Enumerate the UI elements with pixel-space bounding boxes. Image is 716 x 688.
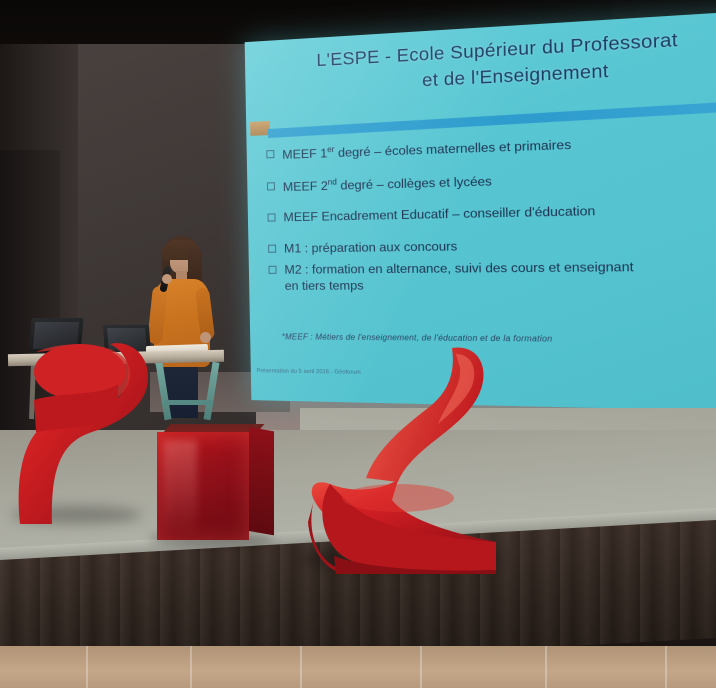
list-item: MEEF 1er degré – écoles maternelles et p…: [264, 129, 716, 164]
list-item: M2 : formation en alternance, suivi des …: [266, 258, 716, 294]
square-bullet-icon: [269, 266, 277, 274]
bullet-text-continuation: en tiers temps: [285, 276, 716, 294]
bullet-text: MEEF 1: [282, 146, 327, 162]
bullet-text: MEEF Encadrement Educatif – conseiller d…: [283, 204, 595, 225]
floor-tiles: [0, 646, 716, 688]
square-bullet-icon: [266, 150, 274, 158]
square-bullet-icon: [267, 182, 275, 190]
acrylic-cube-highlight: [163, 440, 197, 532]
list-item: M1 : préparation aux concours: [266, 234, 716, 257]
bullet-text-rest: degré – écoles maternelles et primaires: [334, 137, 571, 160]
acrylic-cube-side: [249, 427, 274, 535]
list-item: MEEF Encadrement Educatif – conseiller d…: [265, 200, 716, 226]
list-item: MEEF 2nd degré – collèges et lycées: [265, 165, 716, 196]
panton-chair-left: [6, 336, 156, 526]
square-bullet-icon: [268, 214, 276, 222]
square-bullet-icon: [268, 244, 276, 252]
bullet-superscript: nd: [328, 177, 337, 186]
table-brace: [164, 400, 212, 405]
presentation-photo-scene: L'ESPE - Ecole Supérieur du Professorat …: [0, 0, 716, 688]
speaker-hand-holding-mic: [162, 274, 172, 284]
slide-bullet-list: MEEF 1er degré – écoles maternelles et p…: [264, 129, 716, 309]
speaker-hand-right: [200, 332, 211, 343]
bullet-text: MEEF 2: [283, 178, 328, 193]
bullet-text: M1 : préparation aux concours: [284, 239, 458, 256]
bullet-text-rest: degré – collèges et lycées: [337, 174, 492, 193]
bullet-text: M2 : formation en alternance, suivi des …: [284, 260, 633, 277]
panton-chair-center: [306, 342, 510, 574]
speaker-person: [148, 236, 214, 416]
